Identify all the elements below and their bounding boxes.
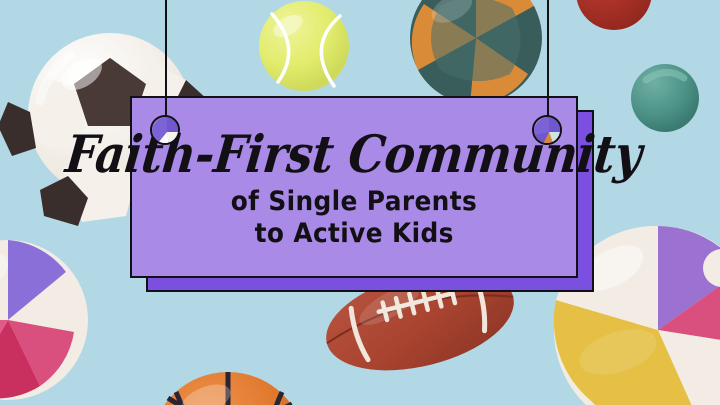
green-ball-icon xyxy=(631,64,699,132)
title-card: Faith-First Community of Single Parents … xyxy=(130,96,578,278)
hanging-cord-left xyxy=(165,0,167,132)
volleyball-teal-orange-icon xyxy=(410,0,542,104)
basketball-icon xyxy=(150,372,306,405)
badge-left-icon xyxy=(150,115,180,145)
beach-ball-pink-icon xyxy=(0,240,88,400)
slide-canvas: Faith-First Community of Single Parents … xyxy=(0,0,720,405)
subtitle-line-2: to Active Kids xyxy=(254,218,453,250)
bowling-ball-icon xyxy=(576,0,652,30)
hanging-cord-right xyxy=(547,0,549,132)
badge-right-icon xyxy=(532,115,562,145)
tennis-ball-icon xyxy=(259,1,349,91)
subtitle-line-1: of Single Parents xyxy=(231,186,477,218)
